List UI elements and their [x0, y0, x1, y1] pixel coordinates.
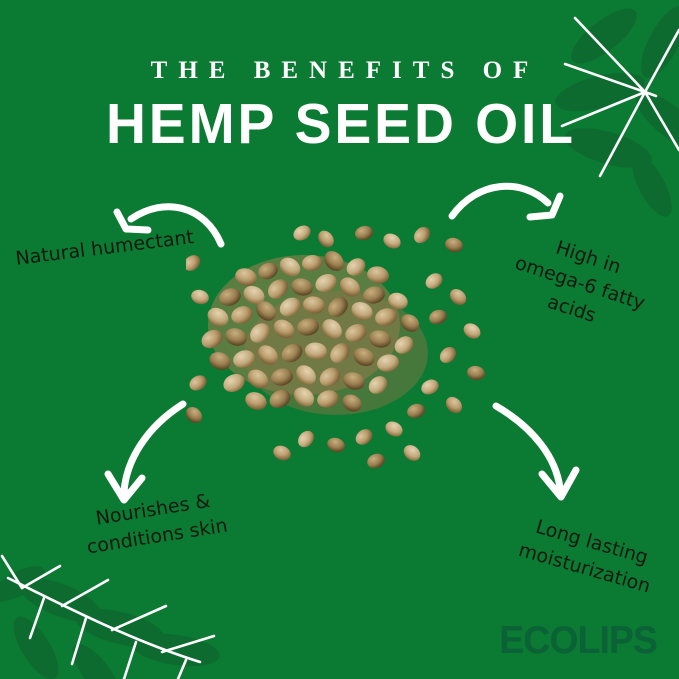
brand-logo: ECOLIPS [496, 621, 660, 660]
benefit-label-nourishes-conditions: Nourishes & conditions skin [62, 483, 248, 564]
page-kicker: THE BENEFITS OF [0, 58, 679, 83]
leaf-frond-bottom-left [0, 556, 222, 679]
benefit-label-long-lasting-moisturization: Long lasting moisturization [494, 505, 679, 606]
hemp-seeds-image [186, 205, 496, 470]
arrow-nourishes-conditions [108, 404, 183, 500]
benefit-label-omega-6: High in omega-6 fatty acids [496, 222, 664, 345]
page-title: HEMP SEED OIL [10, 96, 669, 153]
infographic-poster: THE BENEFITS OF HEMP SEED OIL [0, 0, 679, 679]
arrow-long-lasting-moisturization [496, 406, 576, 497]
brand-logo-text: ECOLIPS [499, 621, 657, 660]
